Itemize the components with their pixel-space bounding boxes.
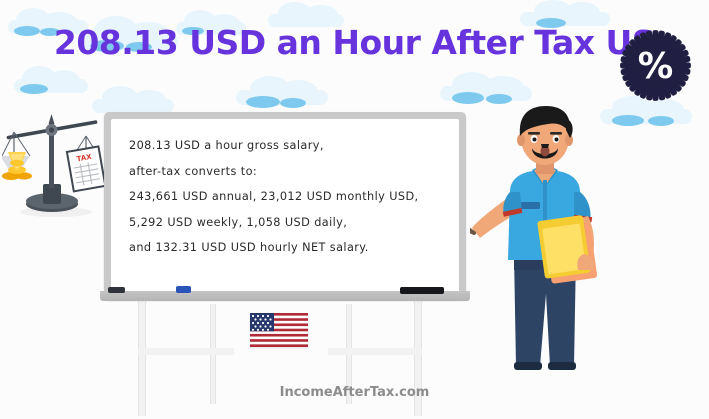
- cloud-decoration: [14, 66, 92, 94]
- whiteboard-line: and 132.31 USD USD hourly NET salary.: [129, 235, 459, 261]
- presenter-character: [470, 104, 620, 372]
- whiteboard-line: 243,661 USD annual, 23,012 USD monthly U…: [129, 184, 459, 210]
- marker-blue-icon: [176, 286, 191, 293]
- balance-scale-illustration: TAX: [2, 100, 110, 220]
- percent-badge: %: [617, 27, 694, 104]
- whiteboard-surface: 208.13 USD a hour gross salary, after-ta…: [111, 119, 459, 293]
- page-title: 208.13 USD an Hour After Tax US: [0, 23, 709, 62]
- whiteboard-frame: 208.13 USD a hour gross salary, after-ta…: [104, 112, 466, 300]
- whiteboard-line: 5,292 USD weekly, 1,058 USD daily,: [129, 210, 459, 236]
- percent-symbol: %: [638, 46, 673, 87]
- eraser-icon: [108, 287, 125, 293]
- tax-document-icon: TAX: [66, 145, 107, 192]
- marker-black-icon: [400, 287, 444, 294]
- site-footer: IncomeAfterTax.com: [0, 385, 709, 400]
- cloud-decoration: [440, 72, 536, 104]
- whiteboard-text: 208.13 USD a hour gross salary, after-ta…: [129, 133, 459, 261]
- whiteboard-line: 208.13 USD a hour gross salary,: [129, 133, 459, 159]
- cloud-decoration: [236, 76, 332, 108]
- whiteboard-line: after-tax converts to:: [129, 159, 459, 185]
- marker-tray: [100, 291, 470, 301]
- whiteboard: 208.13 USD a hour gross salary, after-ta…: [104, 112, 466, 300]
- us-flag: [250, 313, 308, 347]
